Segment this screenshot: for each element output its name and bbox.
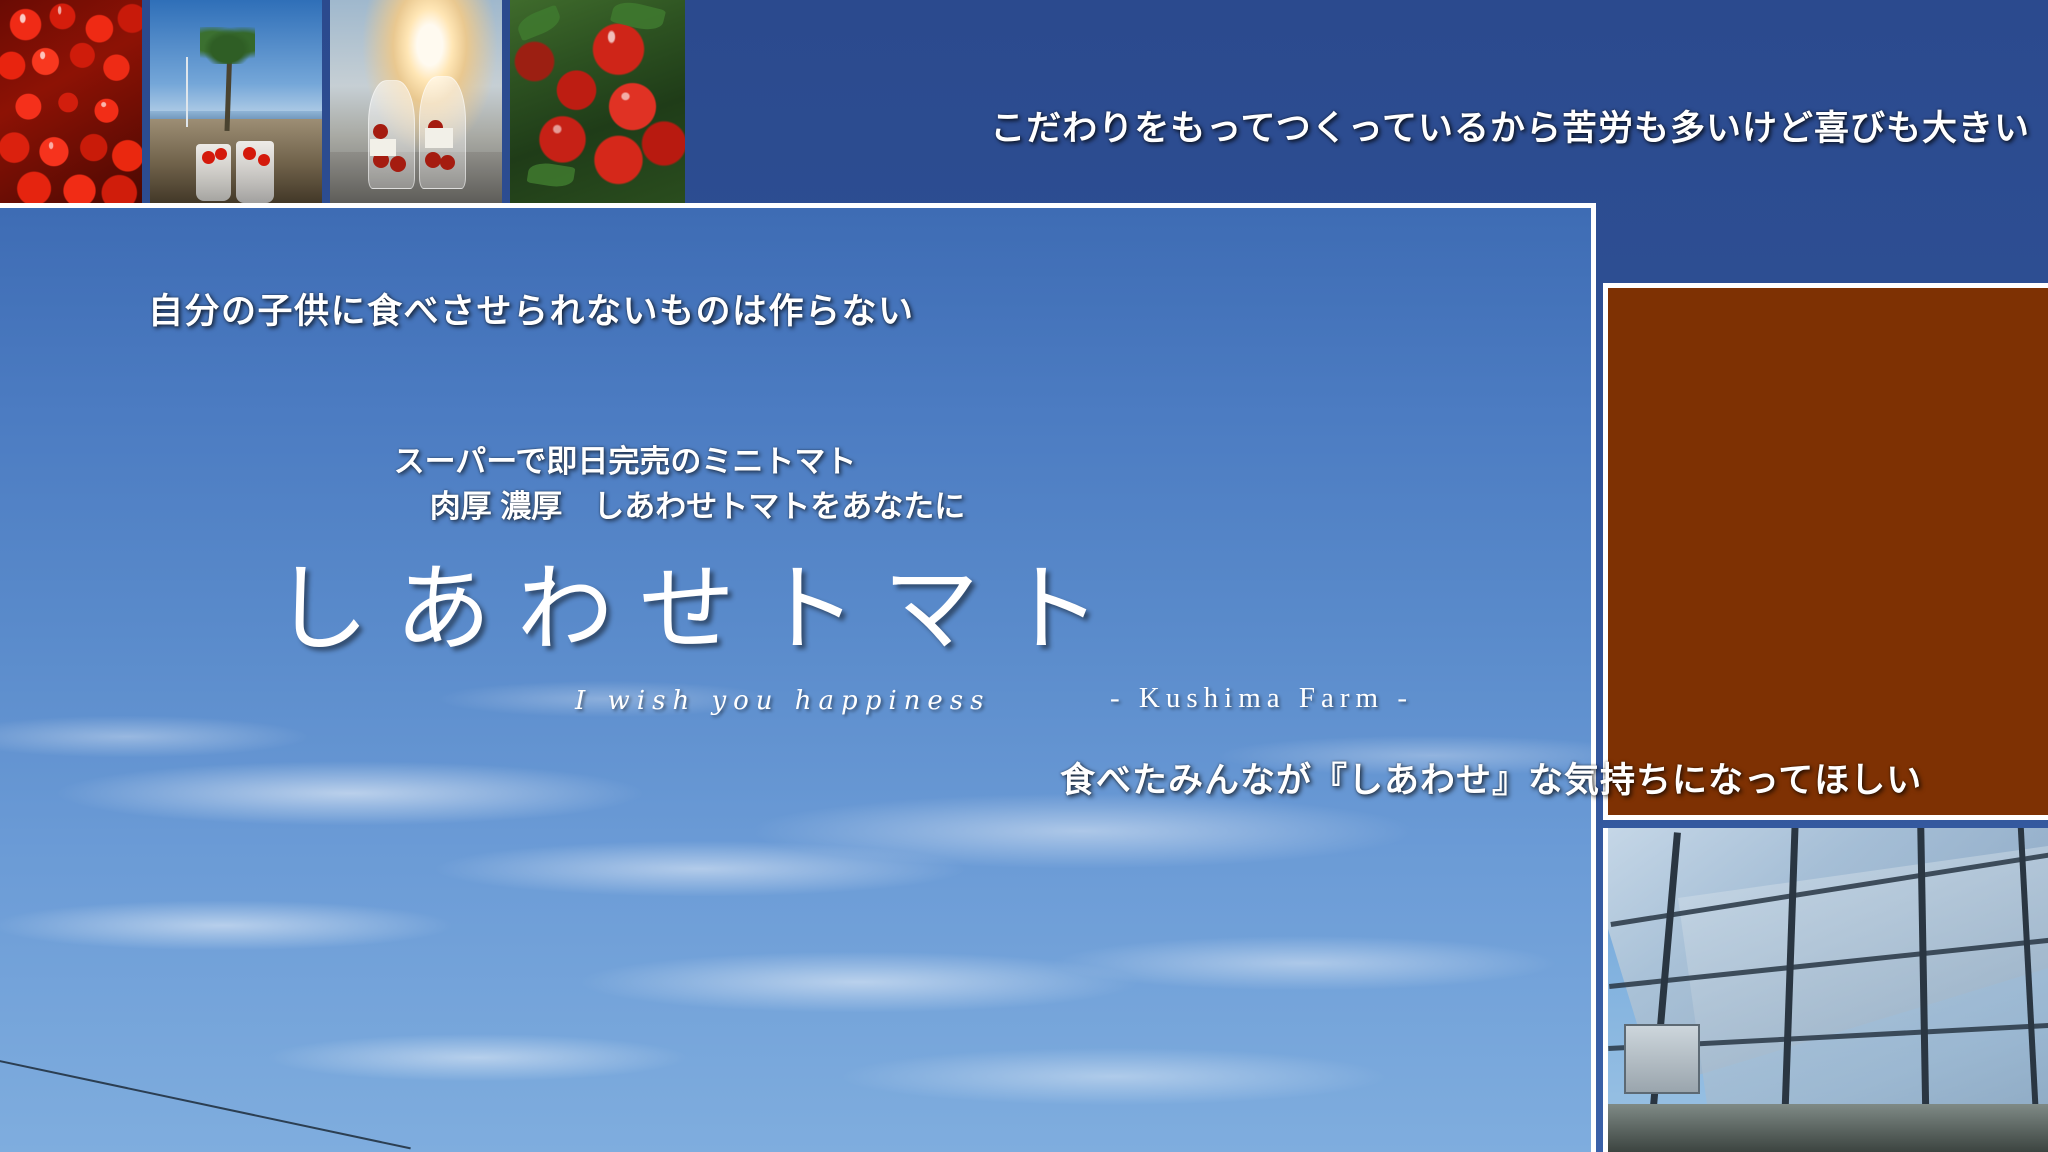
- photo-greenhouse[interactable]: [1603, 828, 2048, 1152]
- photo-vine-tomatoes[interactable]: [510, 0, 685, 205]
- power-line: [0, 1058, 411, 1149]
- lead-copy: スーパーで即日完売のミニトマト 肉厚 濃厚 しあわせトマトをあなたに: [0, 440, 1250, 530]
- photo-beach-palm-tomato-cups[interactable]: [150, 0, 322, 205]
- photo-1-highlights: [0, 0, 142, 205]
- right-content-panel[interactable]: [1603, 283, 2048, 820]
- lead-line-1: スーパーで即日完売のミニトマト: [394, 444, 857, 479]
- caption-bottom-right: 食べたみんなが『しあわせ』な気持ちになってほしい: [1060, 752, 1922, 803]
- brand-farm-name: - Kushima Farm -: [1110, 682, 1413, 715]
- photo-4-highlights: [510, 0, 685, 205]
- hero-canvas: こだわりをもってつくっているから苦労も多いけど喜びも大きい 自分の子供に食べさせ…: [0, 0, 2048, 1152]
- photo-2-pole: [186, 57, 188, 127]
- brand-title: しあわせトマト: [0, 562, 1400, 658]
- greenhouse-ground: [1608, 1104, 2048, 1152]
- photo-3-label: [425, 128, 453, 148]
- lead-line-2: 肉厚 濃厚 しあわせトマトをあなたに: [0, 485, 1250, 530]
- hero-sky-panel: [0, 203, 1596, 1152]
- caption-upper-left: 自分の子供に食べさせられないものは作らない: [148, 283, 915, 334]
- greenhouse-control-box: [1624, 1024, 1700, 1094]
- photo-3-label: [370, 139, 396, 156]
- caption-top-right: こだわりをもってつくっているから苦労も多いけど喜びも大きい: [940, 100, 2030, 151]
- top-photo-strip: [0, 0, 875, 205]
- photo-3-tomato: [425, 152, 441, 168]
- photo-harvested-tomatoes[interactable]: [0, 0, 142, 205]
- brand-tagline-english: I wish you happiness: [575, 686, 990, 716]
- photo-2-berry: [243, 147, 256, 160]
- photo-2-palm-fronds: [200, 27, 255, 64]
- photo-2-berry: [202, 151, 215, 164]
- photo-sunset-tomato-cups[interactable]: [330, 0, 502, 205]
- photo-3-ground: [330, 152, 502, 205]
